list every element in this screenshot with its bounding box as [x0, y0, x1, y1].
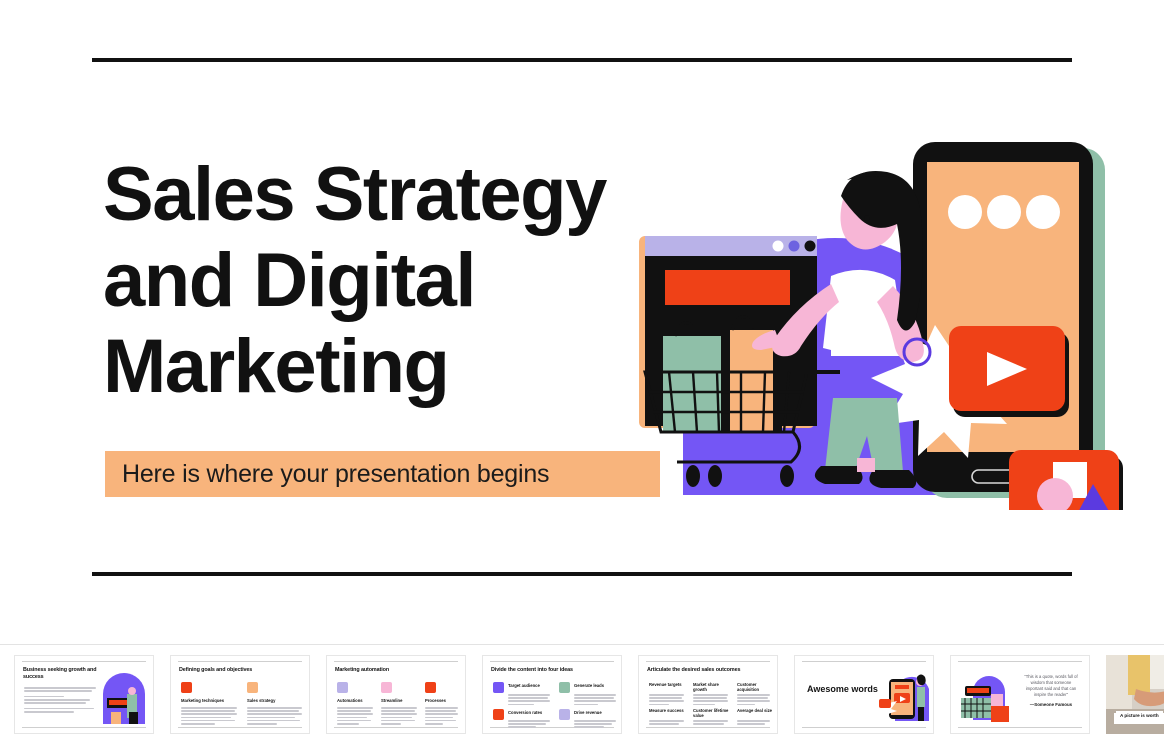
hero-illustration	[635, 140, 1135, 510]
revenue-icon	[559, 709, 570, 720]
leads-icon	[559, 682, 570, 693]
chart-icon	[247, 682, 258, 693]
divider	[958, 661, 1082, 662]
conversion-icon	[493, 709, 504, 720]
audience-icon	[493, 682, 504, 693]
thumbnail-subheading: Processes	[425, 698, 463, 703]
divider	[22, 727, 146, 728]
slide-bottom-rule	[92, 572, 1072, 576]
tablet-dots	[948, 195, 1060, 229]
filter-icon	[381, 682, 392, 693]
thumbnail-subheading: Drive revenue	[574, 710, 618, 715]
divider	[958, 727, 1082, 728]
slide-top-rule	[92, 58, 1072, 62]
thumbnail-subheading: Streamline	[381, 698, 421, 703]
divider	[334, 661, 458, 662]
bullhorn-icon	[181, 682, 192, 693]
thumbnail-slide-6[interactable]: Awesome words	[794, 655, 934, 734]
thumbnail-slide-4[interactable]: Divide the content into four ideas Targe…	[482, 655, 622, 734]
thumbnail-subheading: Generate leads	[574, 683, 618, 688]
thumbnail-title: Defining goals and objectives	[179, 667, 301, 674]
thumbnail-slide-5[interactable]: Articulate the desired sales outcomes Re…	[638, 655, 778, 734]
thumbnail-subheading: Market share growth	[693, 682, 731, 692]
thumbnail-art	[1106, 655, 1164, 734]
thumbnail-filmstrip[interactable]: Business seeking growth and success D	[0, 644, 1164, 741]
gear-icon	[425, 682, 436, 693]
slide-title: Sales Strategy and Digital Marketing	[103, 152, 663, 410]
thumbnail-subheading: Average deal size	[737, 708, 773, 713]
thumbnail-subheading: Customer acquisition	[737, 682, 773, 692]
thumbnail-subheading: Revenue targets	[649, 682, 685, 687]
divider	[802, 661, 926, 662]
thumbnail-title: Marketing automation	[335, 667, 457, 674]
quote-attribution: —Someone Famous	[1022, 702, 1080, 708]
thumbnail-title: Awesome words	[807, 684, 878, 695]
divider	[646, 727, 770, 728]
thumbnail-subheading: Sales strategy	[247, 698, 302, 703]
thumbnail-subheading: Automations	[337, 698, 377, 703]
divider	[178, 727, 302, 728]
thumbnail-subheading: Customer lifetime value	[693, 708, 731, 718]
play-button-card	[949, 326, 1069, 417]
slide-subtitle-text: Here is where your presentation begins	[105, 460, 549, 489]
divider	[646, 661, 770, 662]
thumbnail-slide-2[interactable]: Defining goals and objectives Marketing …	[170, 655, 310, 734]
thumbnail-caption: A picture is worth	[1116, 711, 1163, 720]
divider	[178, 661, 302, 662]
divider	[490, 661, 614, 662]
thumbnail-title: Articulate the desired sales outcomes	[647, 667, 769, 674]
thumbnail-slide-1[interactable]: Business seeking growth and success	[14, 655, 154, 734]
thumbnail-slide-8[interactable]: A picture is worth	[1106, 655, 1164, 734]
thumbnail-quote: “This is a quote, words full of wisdom t…	[1022, 674, 1080, 708]
thumbnail-subheading: Measure success	[649, 708, 685, 713]
thumbnail-list: Business seeking growth and success D	[14, 655, 1164, 734]
thumbnail-art	[957, 670, 1017, 722]
thumbnail-subheading: Target audience	[508, 683, 552, 688]
divider	[334, 727, 458, 728]
tablet-device	[913, 142, 1105, 498]
thumbnail-subheading: Conversion rates	[508, 710, 552, 715]
divider	[22, 661, 146, 662]
thumbnail-art	[101, 672, 147, 726]
slide-canvas: Sales Strategy and Digital Marketing Her…	[0, 0, 1164, 644]
thumbnail-subheading: Marketing techniques	[181, 698, 239, 703]
thumbnail-art	[873, 669, 929, 723]
thumbnail-slide-3[interactable]: Marketing automation Automations Streaml…	[326, 655, 466, 734]
quote-text: “This is a quote, words full of wisdom t…	[1024, 674, 1077, 697]
thumbnail-title: Divide the content into four ideas	[491, 667, 613, 674]
robot-icon	[337, 682, 348, 693]
slide-subtitle-band: Here is where your presentation begins	[105, 451, 660, 497]
thumbnail-title: Business seeking growth and success	[23, 667, 101, 681]
thumbnail-slide-7[interactable]: “This is a quote, words full of wisdom t…	[950, 655, 1090, 734]
divider	[802, 727, 926, 728]
media-image-card	[1009, 450, 1123, 510]
